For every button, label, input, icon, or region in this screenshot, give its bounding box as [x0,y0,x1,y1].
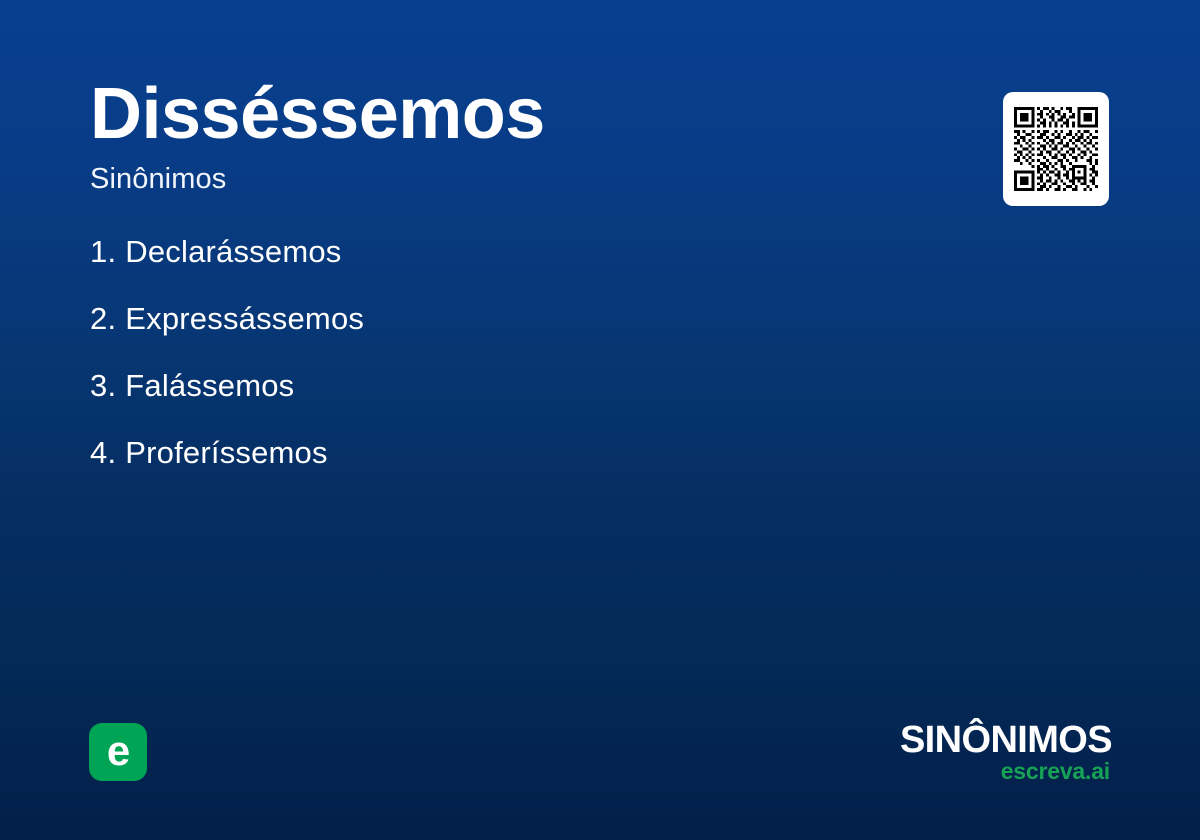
synonyms-list: 1.Declarássemos2.Expressássemos3.Falásse… [90,236,850,468]
list-item-index: 4. [90,435,116,470]
sinonimos-wordmark[interactable]: SINÔNIMOS escreva.ai [900,722,1112,783]
list-item-index: 3. [90,368,116,403]
page-title: Disséssemos [90,78,910,150]
list-item-label: Falássemos [125,368,294,403]
wordmark-sub-text: escreva.ai [900,760,1110,783]
escreva-badge[interactable]: e [89,723,147,781]
list-item: 2.Expressássemos [90,303,850,334]
headline-block: Disséssemos Sinônimos [90,78,910,196]
wordmark-main-text: SINÔNIMOS [900,722,1112,758]
synonyms-card: Disséssemos Sinônimos 1.Declarássemos2.E… [0,0,1200,840]
list-item-index: 2. [90,301,116,336]
list-item-label: Declarássemos [125,234,341,269]
list-item-index: 1. [90,234,116,269]
list-item-label: Proferíssemos [125,435,327,470]
list-item-label: Expressássemos [125,301,364,336]
qr-code[interactable] [1003,92,1109,206]
list-item: 1.Declarássemos [90,236,850,267]
list-item: 4.Proferíssemos [90,437,850,468]
list-item: 3.Falássemos [90,370,850,401]
qr-code-icon [1014,107,1098,191]
escreva-e-badge-icon: e [107,730,129,772]
page-subtitle: Sinônimos [90,164,910,196]
